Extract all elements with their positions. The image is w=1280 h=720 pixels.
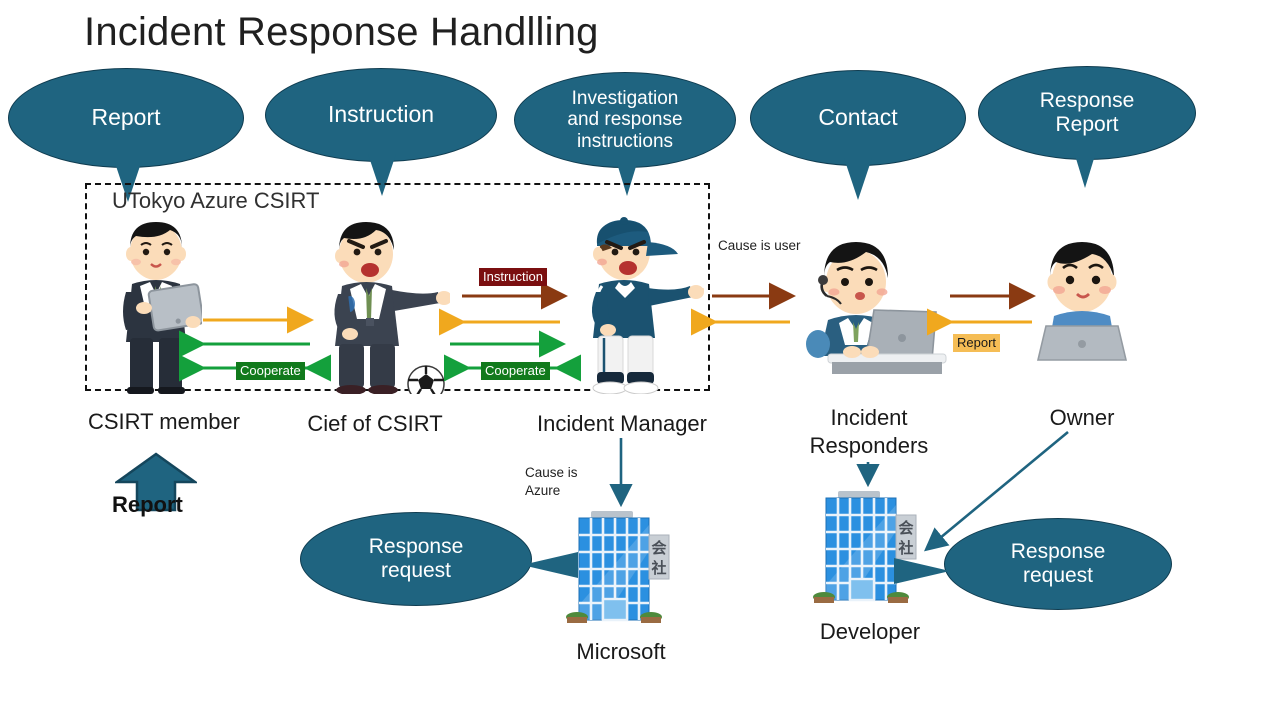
bubble-response-request-right: Response request [944, 518, 1172, 610]
caption-developer: Developer [800, 618, 940, 646]
chip-instruction: Instruction [479, 268, 547, 286]
caption-chief-of-csirt: Cief of CSIRT [296, 410, 454, 438]
connector-arrows [0, 0, 1280, 720]
bubble-response-request-left-label: Response request [300, 512, 532, 606]
report-block-arrow-label: Report [112, 492, 183, 518]
bubble-response-request-left-tail [522, 552, 578, 578]
bubble-response-request-left: Response request [300, 512, 532, 606]
caption-owner: Owner [1014, 404, 1150, 432]
caption-csirt-member: CSIRT member [80, 408, 248, 436]
caption-microsoft: Microsoft [548, 638, 694, 666]
chip-cooperate-left: Cooperate [236, 362, 305, 380]
note-cause-is-user: Cause is user [718, 237, 801, 255]
caption-incident-responders: Incident Responders [788, 404, 950, 460]
bubble-response-request-right-label: Response request [944, 518, 1172, 610]
caption-incident-manager: Incident Manager [524, 410, 720, 438]
chip-report: Report [953, 334, 1000, 352]
bubble-response-request-right-tail [894, 558, 950, 584]
chip-cooperate-right: Cooperate [481, 362, 550, 380]
diagram-canvas: Incident Response Handlling Report Instr… [0, 0, 1280, 720]
note-cause-is-azure: Cause is Azure [525, 464, 578, 500]
